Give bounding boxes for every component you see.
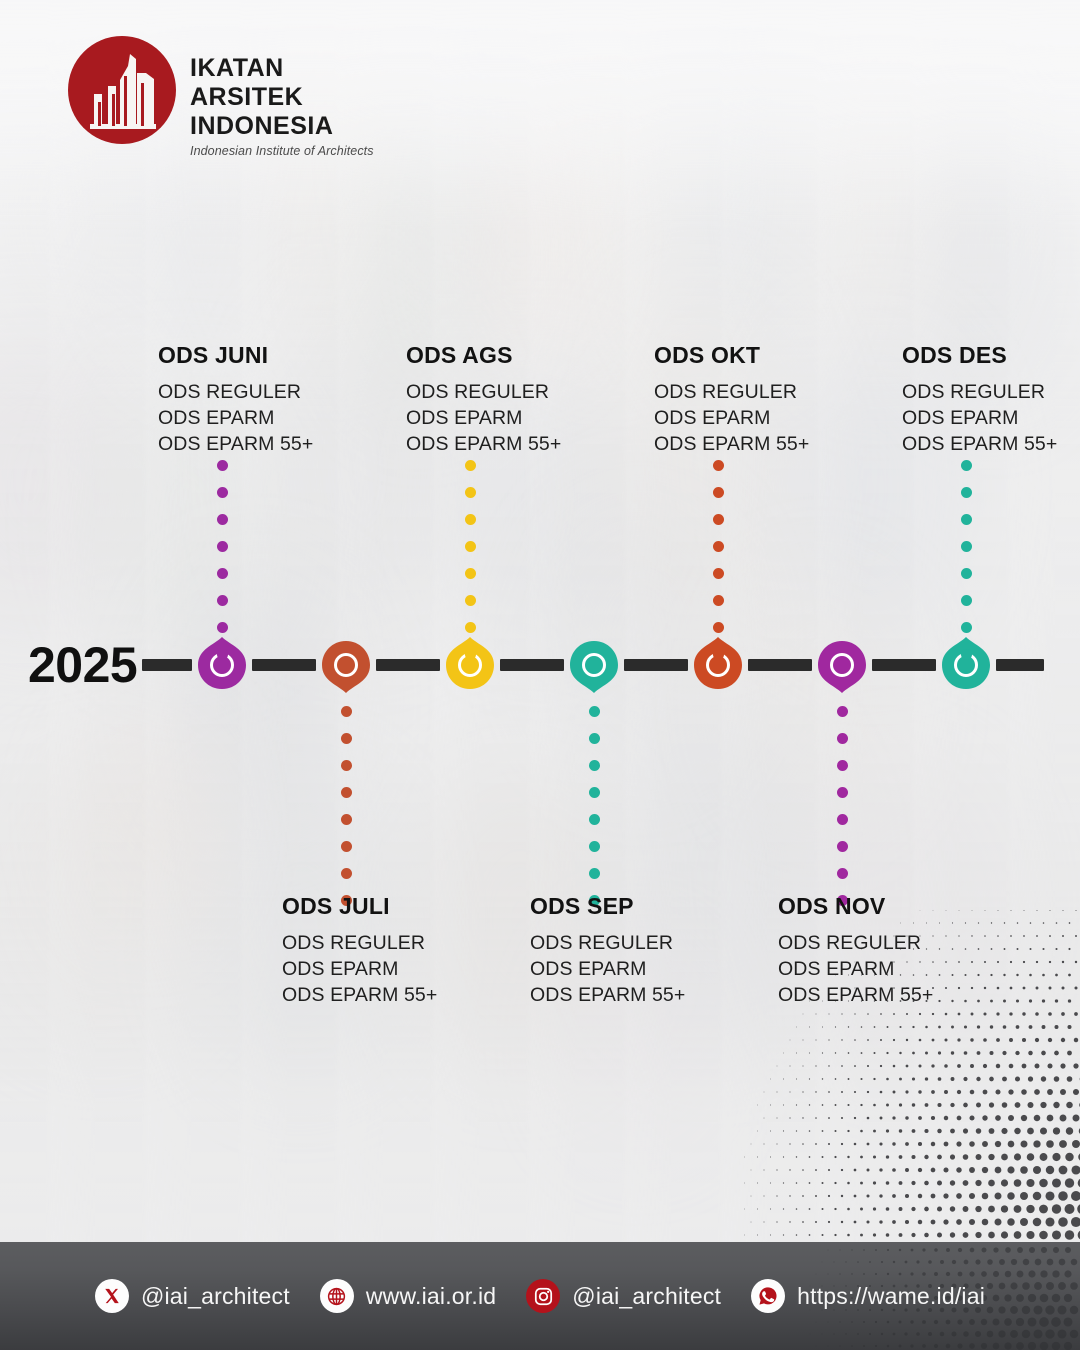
connector-dot — [837, 868, 848, 879]
timeline-connector-dots — [465, 460, 476, 676]
event-item: ODS REGULER — [158, 380, 418, 406]
connector-dot — [837, 814, 848, 825]
connector-dot — [589, 706, 600, 717]
connector-dot — [465, 541, 476, 552]
timeline-label-ods-sep: ODS SEPODS REGULERODS EPARMODS EPARM 55+ — [530, 893, 790, 1009]
connector-dot — [465, 595, 476, 606]
connector-dot — [465, 568, 476, 579]
timeline-axis-segment — [748, 659, 812, 671]
event-item: ODS EPARM 55+ — [530, 983, 790, 1009]
connector-dot — [217, 487, 228, 498]
connector-dot — [341, 841, 352, 852]
connector-dot — [713, 568, 724, 579]
marker-ring — [334, 653, 358, 677]
footer-item-whatsapp[interactable]: https://wame.id/iai — [751, 1279, 985, 1313]
instagram-icon — [526, 1279, 560, 1313]
event-item: ODS EPARM — [530, 957, 790, 983]
event-item: ODS EPARM — [902, 406, 1080, 432]
footer-item-instagram[interactable]: @iai_architect — [526, 1279, 721, 1313]
footer-label-website: www.iai.or.id — [366, 1283, 496, 1310]
timeline-label-ods-ags: ODS AGSODS REGULERODS EPARMODS EPARM 55+ — [406, 342, 666, 458]
timeline-marker-ods-juli[interactable] — [318, 637, 374, 693]
event-item: ODS REGULER — [654, 380, 914, 406]
event-title: ODS DES — [902, 342, 1080, 369]
timeline-label-ods-nov: ODS NOVODS REGULERODS EPARMODS EPARM 55+ — [778, 893, 1038, 1009]
connector-dot — [589, 868, 600, 879]
connector-dot — [713, 487, 724, 498]
event-item: ODS EPARM 55+ — [778, 983, 1038, 1009]
connector-dot — [713, 649, 724, 660]
connector-dot — [217, 595, 228, 606]
event-item: ODS REGULER — [530, 931, 790, 957]
marker-ring — [582, 653, 606, 677]
connector-dot — [589, 760, 600, 771]
event-title: ODS AGS — [406, 342, 666, 369]
timeline-marker-ods-sep[interactable] — [566, 637, 622, 693]
footer-label-x: @iai_architect — [141, 1283, 290, 1310]
event-item: ODS EPARM 55+ — [654, 432, 914, 458]
timeline-axis-segment — [996, 659, 1044, 671]
connector-dot — [465, 622, 476, 633]
timeline-connector-dots — [837, 706, 848, 922]
connector-dot — [961, 595, 972, 606]
whatsapp-icon — [751, 1279, 785, 1313]
connector-dot — [217, 460, 228, 471]
connector-dot — [217, 514, 228, 525]
connector-dot — [589, 787, 600, 798]
timeline-marker-ods-nov[interactable] — [814, 637, 870, 693]
footer-item-website[interactable]: www.iai.or.id — [320, 1279, 496, 1313]
connector-dot — [713, 622, 724, 633]
timeline-label-ods-juni: ODS JUNIODS REGULERODS EPARMODS EPARM 55… — [158, 342, 418, 458]
connector-dot — [837, 787, 848, 798]
event-item: ODS EPARM 55+ — [406, 432, 666, 458]
event-title: ODS OKT — [654, 342, 914, 369]
connector-dot — [341, 706, 352, 717]
timeline-connector-dots — [217, 460, 228, 676]
footer-contact-bar: @iai_architect www.iai.or.id @iai_arch — [0, 1242, 1080, 1350]
timeline-axis-segment — [142, 659, 192, 671]
timeline-axis-segment — [252, 659, 316, 671]
connector-dot — [465, 649, 476, 660]
event-title: ODS JUNI — [158, 342, 418, 369]
connector-dot — [217, 568, 228, 579]
timeline-axis-segment — [624, 659, 688, 671]
connector-dot — [341, 868, 352, 879]
timeline-label-ods-des: ODS DESODS REGULERODS EPARMODS EPARM 55+ — [902, 342, 1080, 458]
footer-label-instagram: @iai_architect — [572, 1283, 721, 1310]
footer-label-whatsapp: https://wame.id/iai — [797, 1283, 985, 1310]
event-item: ODS EPARM 55+ — [282, 983, 542, 1009]
connector-dot — [961, 649, 972, 660]
event-title: ODS SEP — [530, 893, 790, 920]
connector-dot — [217, 649, 228, 660]
connector-dot — [465, 514, 476, 525]
event-item: ODS EPARM — [158, 406, 418, 432]
connector-dot — [961, 622, 972, 633]
connector-dot — [589, 733, 600, 744]
event-item: ODS EPARM — [778, 957, 1038, 983]
connector-dot — [837, 733, 848, 744]
connector-dot — [837, 706, 848, 717]
connector-dot — [465, 487, 476, 498]
event-item: ODS REGULER — [406, 380, 666, 406]
connector-dot — [713, 460, 724, 471]
connector-dot — [217, 541, 228, 552]
event-item: ODS EPARM — [654, 406, 914, 432]
x-twitter-icon — [95, 1279, 129, 1313]
connector-dot — [589, 814, 600, 825]
connector-dot — [961, 541, 972, 552]
event-title: ODS NOV — [778, 893, 1038, 920]
timeline-year: 2025 — [28, 636, 137, 694]
connector-dot — [341, 787, 352, 798]
connector-dot — [713, 541, 724, 552]
timeline-connector-dots — [961, 460, 972, 676]
timeline-label-ods-juli: ODS JULIODS REGULERODS EPARMODS EPARM 55… — [282, 893, 542, 1009]
event-item: ODS REGULER — [902, 380, 1080, 406]
connector-dot — [961, 487, 972, 498]
connector-dot — [961, 568, 972, 579]
timeline-axis-segment — [872, 659, 936, 671]
event-item: ODS EPARM — [406, 406, 666, 432]
connector-dot — [341, 760, 352, 771]
connector-dot — [341, 733, 352, 744]
globe-icon — [320, 1279, 354, 1313]
timeline-label-ods-okt: ODS OKTODS REGULERODS EPARMODS EPARM 55+ — [654, 342, 914, 458]
timeline-connector-dots — [589, 706, 600, 922]
event-item: ODS EPARM — [282, 957, 542, 983]
event-title: ODS JULI — [282, 893, 542, 920]
connector-dot — [713, 595, 724, 606]
connector-dot — [217, 622, 228, 633]
connector-dot — [589, 841, 600, 852]
connector-dot — [961, 514, 972, 525]
timeline-connector-dots — [713, 460, 724, 676]
connector-dot — [961, 460, 972, 471]
connector-dot — [713, 514, 724, 525]
timeline: 2025 ODS JUNIODS REGULERODS EPARMODS EPA… — [0, 0, 1080, 1350]
connector-dot — [837, 760, 848, 771]
footer-item-x[interactable]: @iai_architect — [95, 1279, 290, 1313]
event-item: ODS EPARM 55+ — [902, 432, 1080, 458]
event-item: ODS REGULER — [778, 931, 1038, 957]
event-item: ODS REGULER — [282, 931, 542, 957]
poster-canvas: IKATAN ARSITEK INDONESIA Indonesian Inst… — [0, 0, 1080, 1350]
marker-ring — [830, 653, 854, 677]
timeline-axis-segment — [376, 659, 440, 671]
connector-dot — [465, 460, 476, 471]
timeline-connector-dots — [341, 706, 352, 922]
connector-dot — [837, 841, 848, 852]
timeline-axis-segment — [500, 659, 564, 671]
event-item: ODS EPARM 55+ — [158, 432, 418, 458]
connector-dot — [341, 814, 352, 825]
